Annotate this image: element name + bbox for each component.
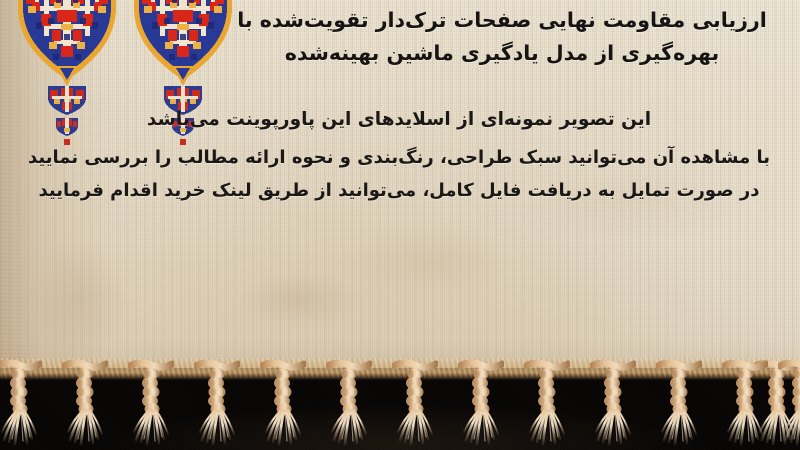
slide-body: این تصویر نمونه‌ای از اسلایدهای این پاور… — [18, 108, 780, 204]
tassel — [392, 360, 438, 450]
tassel — [524, 360, 570, 450]
tassel — [590, 360, 636, 450]
slide-title-line-1: ارزیابی مقاومت نهایی صفحات ترک‌دار تقویت… — [222, 4, 782, 37]
body-line-1: این تصویر نمونه‌ای از اسلایدهای این پاور… — [18, 108, 780, 133]
tassel — [260, 360, 306, 450]
tassel — [0, 360, 42, 450]
slide-canvas: ارزیابی مقاومت نهایی صفحات ترک‌دار تقویت… — [0, 0, 800, 450]
slide-title: ارزیابی مقاومت نهایی صفحات ترک‌دار تقویت… — [222, 4, 782, 70]
tassel-fringe-icon — [0, 360, 800, 450]
tassel — [326, 360, 372, 450]
slide-title-line-2: بهره‌گیری از مدل یادگیری ماشین بهینه‌شده — [222, 37, 782, 70]
body-line-3: در صورت تمایل به دریافت فایل کامل، می‌تو… — [18, 179, 780, 203]
tassel — [128, 360, 174, 450]
body-line-2: با مشاهده آن می‌توانید سبک طراحی، رنگ‌بن… — [18, 146, 780, 170]
tassel — [458, 360, 504, 450]
tassel — [722, 360, 768, 450]
tassel — [778, 360, 800, 450]
tassel — [62, 360, 108, 450]
tassel — [656, 360, 702, 450]
tassel — [194, 360, 240, 450]
